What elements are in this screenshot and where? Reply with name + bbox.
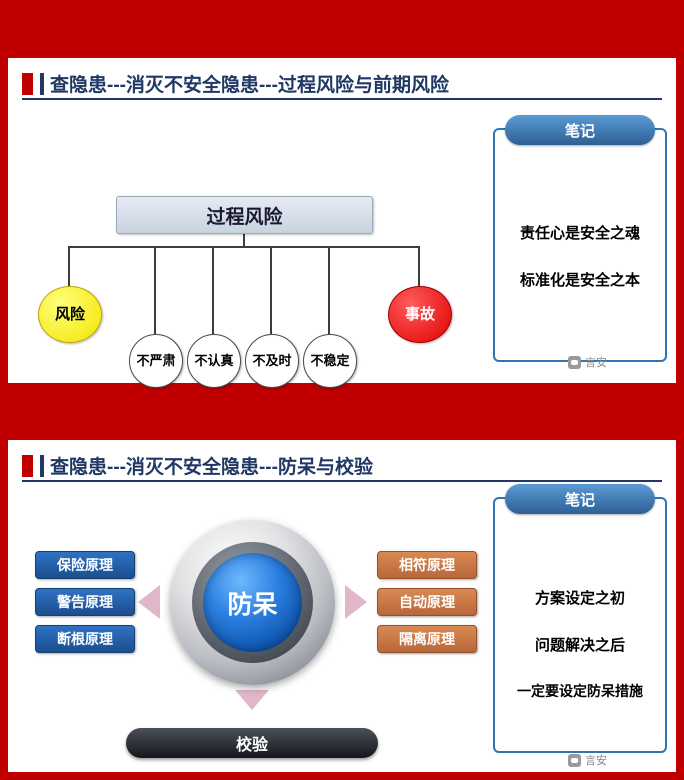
arrow-right-icon bbox=[345, 585, 367, 619]
header-red-mark-icon bbox=[22, 73, 33, 95]
connector-to-right-node bbox=[418, 246, 420, 286]
center-box-process-risk: 过程风险 bbox=[116, 196, 373, 234]
wechat-icon bbox=[568, 356, 581, 369]
slide2-note-body: 方案设定之初 问题解决之后 一定要设定防呆措施 bbox=[495, 499, 665, 701]
connector-to-leaf-1 bbox=[154, 246, 156, 334]
connector-to-left-node bbox=[68, 246, 70, 286]
slide2-watermark-text: 言安 bbox=[585, 752, 607, 768]
node-accident: 事故 bbox=[388, 286, 452, 343]
slide1-note-line-1: 责任心是安全之魂 bbox=[495, 222, 665, 243]
slide1-note-tab: 笔记 bbox=[505, 115, 655, 145]
node-risk: 风险 bbox=[38, 286, 102, 343]
slide2-note-line-2: 问题解决之后 bbox=[495, 634, 665, 655]
header-blue-bar-icon bbox=[40, 73, 44, 95]
slide-process-risk: 查隐患---消灭不安全隐患---过程风险与前期风险 过程风险 风险 事故 不严肃… bbox=[8, 58, 676, 383]
poka-yoke-donut: 防呆 bbox=[170, 520, 335, 685]
leaf-node-4: 不稳定 bbox=[303, 334, 357, 388]
slide1-header: 查隐患---消灭不安全隐患---过程风险与前期风险 bbox=[22, 70, 449, 97]
arrow-down-icon bbox=[235, 690, 269, 710]
slide1-watermark-text: 言安 bbox=[585, 354, 607, 370]
slide1-watermark: 言安 bbox=[568, 354, 607, 370]
slide1-note-line-2: 标准化是安全之本 bbox=[495, 269, 665, 290]
slide2-header: 查隐患---消灭不安全隐患---防呆与校验 bbox=[22, 452, 373, 479]
connector-trunk bbox=[243, 232, 245, 246]
slide2-header-title: 查隐患---消灭不安全隐患---防呆与校验 bbox=[50, 452, 373, 479]
header-blue-bar-icon-2 bbox=[40, 455, 44, 477]
slide2-watermark: 言安 bbox=[568, 752, 607, 768]
header-red-mark-icon-2 bbox=[22, 455, 33, 477]
leaf-node-1: 不严肃 bbox=[129, 334, 183, 388]
slide1-header-rule bbox=[22, 98, 662, 100]
donut-center-label: 防呆 bbox=[203, 553, 302, 652]
left-item-2: 警告原理 bbox=[35, 588, 135, 616]
connector-horizontal bbox=[68, 246, 420, 248]
slide2-note-line-3: 一定要设定防呆措施 bbox=[495, 681, 665, 701]
leaf-node-2: 不认真 bbox=[187, 334, 241, 388]
arrow-left-icon bbox=[138, 585, 160, 619]
connector-to-leaf-2 bbox=[212, 246, 214, 334]
left-item-1: 保险原理 bbox=[35, 551, 135, 579]
leaf-node-3: 不及时 bbox=[245, 334, 299, 388]
connector-to-leaf-3 bbox=[270, 246, 272, 334]
slide2-note-card: 笔记 方案设定之初 问题解决之后 一定要设定防呆措施 bbox=[493, 497, 667, 753]
slide2-header-rule bbox=[22, 480, 662, 482]
slide1-note-card: 笔记 责任心是安全之魂 标准化是安全之本 bbox=[493, 128, 667, 362]
slide1-note-body: 责任心是安全之魂 标准化是安全之本 bbox=[495, 130, 665, 290]
right-item-3: 隔离原理 bbox=[377, 625, 477, 653]
right-item-2: 自动原理 bbox=[377, 588, 477, 616]
slide1-header-title: 查隐患---消灭不安全隐患---过程风险与前期风险 bbox=[50, 70, 449, 97]
slide2-note-line-1: 方案设定之初 bbox=[495, 587, 665, 608]
verify-bar: 校验 bbox=[126, 728, 378, 758]
wechat-icon-2 bbox=[568, 754, 581, 767]
left-item-3: 断根原理 bbox=[35, 625, 135, 653]
right-item-1: 相符原理 bbox=[377, 551, 477, 579]
slide2-note-tab: 笔记 bbox=[505, 484, 655, 514]
connector-to-leaf-4 bbox=[328, 246, 330, 334]
